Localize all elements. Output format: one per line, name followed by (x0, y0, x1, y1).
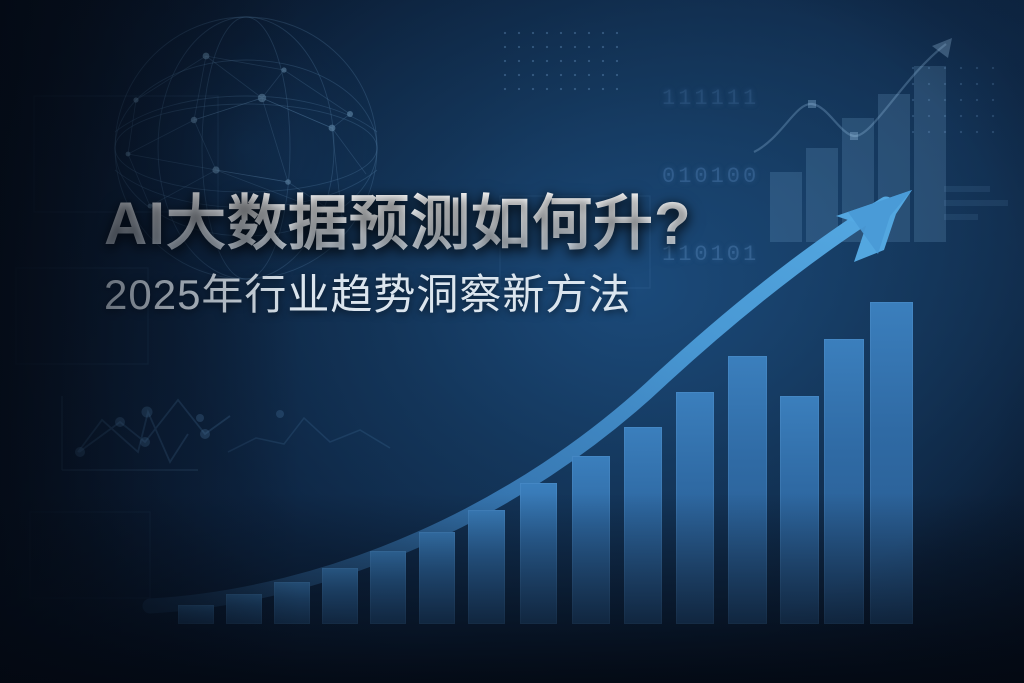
chart-bar (178, 605, 214, 624)
chart-bar (468, 510, 505, 624)
chart-bar (322, 568, 358, 624)
chart-bar (274, 582, 310, 624)
headline-block: AI大数据预测如何升? 2025年行业趋势洞察新方法 (104, 192, 904, 318)
chart-bar (780, 396, 819, 624)
chart-bar (870, 302, 913, 624)
chart-bar (419, 532, 455, 624)
chart-bar (824, 339, 864, 624)
chart-bar (572, 456, 610, 624)
page-title: AI大数据预测如何升? (104, 192, 904, 256)
chart-bar (226, 594, 262, 624)
hero-bar-chart (0, 0, 1024, 683)
chart-bar (676, 392, 714, 624)
chart-bar (520, 483, 557, 624)
page-subtitle: 2025年行业趋势洞察新方法 (104, 272, 904, 318)
poster-canvas: 111111 010100 110101 (0, 0, 1024, 683)
chart-bar (370, 551, 406, 624)
chart-bar (728, 356, 767, 624)
chart-bar (624, 427, 662, 624)
